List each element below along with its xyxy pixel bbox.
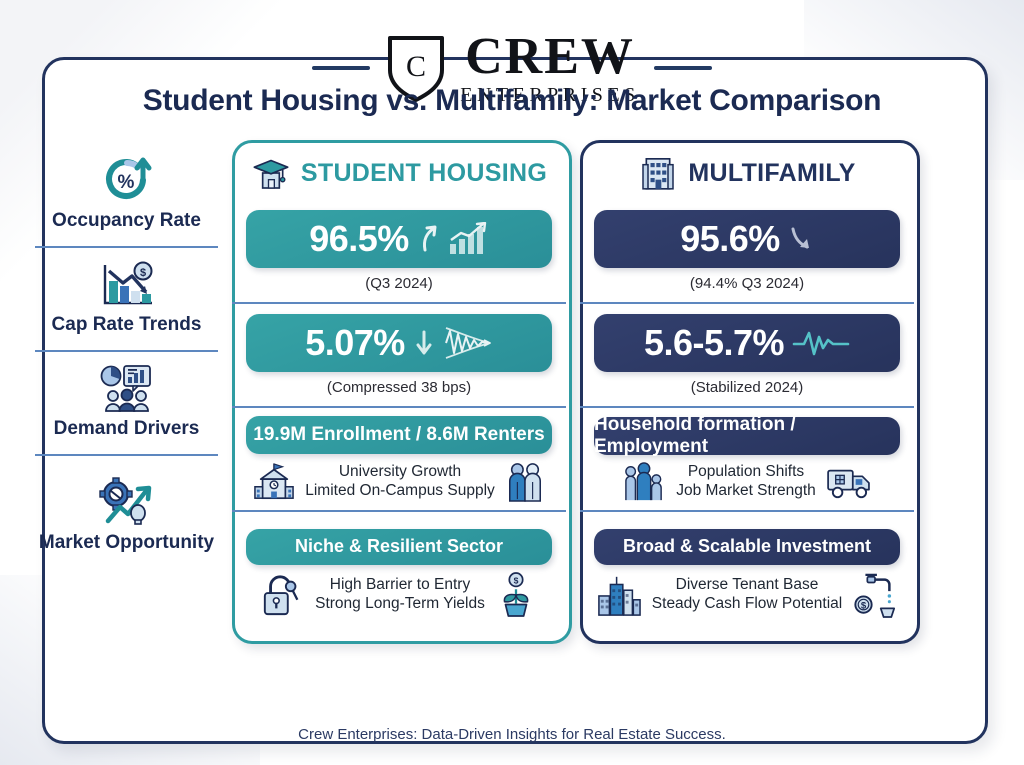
gear-growth-bulb-icon (94, 477, 160, 529)
column-label-multifamily: MULTIFAMILY (688, 159, 855, 188)
metric-value: 19.9M Enrollment / 8.6M Renters (253, 424, 544, 446)
metric-pill-caprate-multifamily: 5.6-5.7% (594, 314, 900, 372)
svg-text:$: $ (139, 267, 145, 279)
metric-pill-demand-multifamily: Household formation / Employment (594, 417, 900, 455)
family-group-icon (622, 462, 666, 502)
bar-chart-growth-icon (447, 222, 489, 256)
up-arrow-icon (417, 224, 439, 254)
row-label-demand-drivers: Demand Drivers (35, 352, 218, 456)
down-arrow-icon (413, 328, 435, 358)
city-skyline-icon (596, 573, 642, 617)
cell-opportunity-multifamily: Broad & Scalable Investment (580, 512, 914, 634)
metric-value: Household formation / Employment (594, 414, 900, 458)
metric-value: Niche & Resilient Sector (295, 536, 503, 557)
cell-occupancy-student: 96.5% (Q3 2024) (232, 200, 566, 304)
row-label-text: Demand Drivers (54, 419, 200, 439)
volatility-cone-icon (443, 325, 493, 361)
metric-pill-demand-student: 19.9M Enrollment / 8.6M Renters (246, 416, 552, 454)
university-building-icon (253, 462, 295, 502)
detail-line-2: Steady Cash Flow Potential (652, 595, 842, 613)
graduation-cap-icon (251, 153, 291, 193)
svg-text:$: $ (861, 600, 867, 611)
column-header-multifamily: MULTIFAMILY (580, 146, 914, 200)
detail-row-opportunity-student: High Barrier to Entry Strong Long-Term Y… (246, 572, 552, 618)
metric-value: 5.07% (305, 322, 405, 364)
logo-right-rule (654, 66, 712, 70)
cell-occupancy-multifamily: 95.6% (94.4% Q3 2024) (580, 200, 914, 304)
metric-value: 95.6% (680, 218, 780, 260)
comparison-cells: 96.5% (Q3 2024) 95.6% (94.4% Q3 2024) (232, 200, 914, 638)
down-arrow-icon (788, 224, 814, 254)
apartment-building-icon (638, 153, 678, 193)
detail-text-demand-multifamily: Population Shifts Job Market Strength (676, 463, 816, 500)
metric-pill-occupancy-multifamily: 95.6% (594, 210, 900, 268)
detail-line-2: Limited On-Campus Supply (305, 482, 495, 500)
metric-value: Broad & Scalable Investment (623, 536, 871, 557)
detail-text-opportunity-multifamily: Diverse Tenant Base Steady Cash Flow Pot… (652, 576, 842, 613)
row-label-market-opportunity: Market Opportunity (35, 456, 218, 578)
metric-subtext: (Compressed 38 bps) (327, 379, 471, 396)
pulse-line-icon (792, 328, 850, 358)
detail-text-opportunity-student: High Barrier to Entry Strong Long-Term Y… (315, 576, 485, 613)
metric-subtext: (Q3 2024) (365, 275, 433, 292)
metric-subtext: (Stabilized 2024) (691, 379, 804, 396)
cell-caprate-multifamily: 5.6-5.7% (Stabilized 2024) (580, 304, 914, 408)
faucet-coin-icon: $ (852, 572, 898, 618)
cell-demand-multifamily: Household formation / Employment Populat… (580, 408, 914, 512)
logo-name: CREW (465, 31, 635, 83)
row-label-text: Market Opportunity (39, 533, 214, 553)
cell-caprate-student: 5.07% (Compressed 38 bps) (232, 304, 566, 408)
svg-text:%: % (117, 172, 134, 193)
metric-pill-caprate-student: 5.07% (246, 314, 552, 372)
cell-opportunity-student: Niche & Resilient Sector High Barrier to… (232, 512, 566, 634)
analytics-people-icon (95, 363, 159, 415)
detail-line-2: Job Market Strength (676, 482, 816, 500)
detail-line-1: High Barrier to Entry (315, 576, 485, 594)
two-students-icon (505, 461, 545, 503)
padlock-key-icon (261, 573, 305, 617)
detail-row-demand-student: University Growth Limited On-Campus Supp… (246, 461, 552, 503)
row-label-text: Occupancy Rate (52, 211, 201, 231)
metric-value: 5.6-5.7% (644, 322, 784, 364)
metric-pill-opportunity-multifamily: Broad & Scalable Investment (594, 529, 900, 565)
logo-left-rule (312, 66, 370, 70)
money-plant-icon: $ (495, 572, 537, 618)
row-label-text: Cap Rate Trends (52, 315, 202, 335)
column-header-student-housing: STUDENT HOUSING (232, 146, 566, 200)
declining-chart-dollar-icon: $ (96, 259, 158, 311)
detail-row-opportunity-multifamily: Diverse Tenant Base Steady Cash Flow Pot… (594, 572, 900, 618)
cell-demand-student: 19.9M Enrollment / 8.6M Renters Universi… (232, 408, 566, 512)
metric-value: 96.5% (309, 218, 409, 260)
detail-row-demand-multifamily: Population Shifts Job Market Strength (594, 462, 900, 502)
moving-truck-icon (826, 463, 872, 501)
detail-text-demand-student: University Growth Limited On-Campus Supp… (305, 463, 495, 500)
metric-pill-occupancy-student: 96.5% (246, 210, 552, 268)
row-label-occupancy-rate: % Occupancy Rate (35, 144, 218, 248)
column-label-student-housing: STUDENT HOUSING (301, 159, 547, 188)
footer-tagline: Crew Enterprises: Data-Driven Insights f… (0, 726, 1024, 743)
row-label-cap-rate-trends: $ Cap Rate Trends (35, 248, 218, 352)
page-title: Student Housing vs. Multifamily: Market … (0, 84, 1024, 118)
detail-line-1: University Growth (305, 463, 495, 481)
metric-subtext: (94.4% Q3 2024) (690, 275, 804, 292)
detail-line-2: Strong Long-Term Yields (315, 595, 485, 613)
svg-text:$: $ (513, 575, 518, 585)
percent-gauge-icon: % (99, 155, 155, 207)
detail-line-1: Population Shifts (676, 463, 816, 481)
detail-line-1: Diverse Tenant Base (652, 576, 842, 594)
svg-text:C: C (406, 50, 426, 83)
metric-pill-opportunity-student: Niche & Resilient Sector (246, 529, 552, 565)
